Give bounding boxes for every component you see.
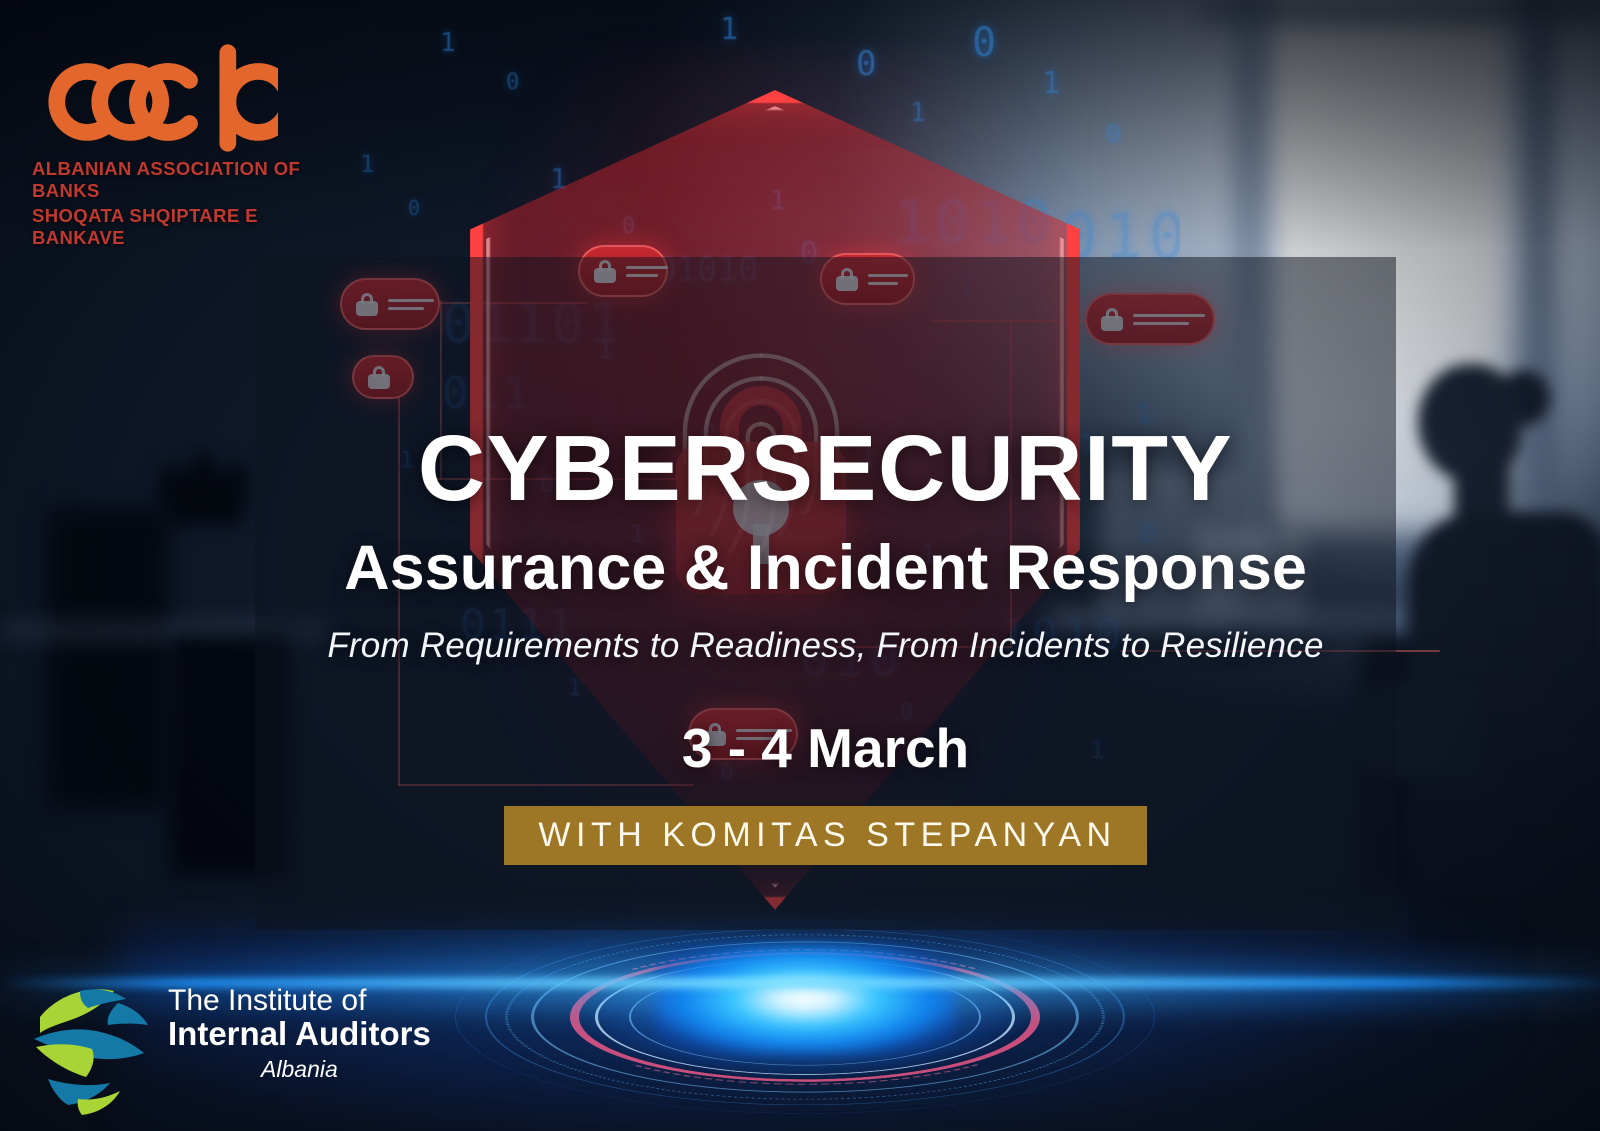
speaker-badge: WITH KOMITAS STEPANYAN	[504, 806, 1146, 865]
iia-logo: The Institute of Internal Auditors Alban…	[22, 975, 431, 1115]
iia-logo-line1: The Institute of	[168, 985, 431, 1016]
event-date: 3 - 4 March	[682, 716, 969, 780]
event-poster: 1 0 1 0 1 0 1 0 1 0 1 0 1 0 01010 01101 …	[0, 0, 1600, 1131]
aab-logo: ALBANIAN ASSOCIATION OF BANKS SHOQATA SH…	[32, 42, 332, 249]
event-subtitle: Assurance & Incident Response	[344, 537, 1307, 600]
iia-logo-line3: Albania	[168, 1056, 431, 1083]
event-tagline: From Requirements to Readiness, From Inc…	[327, 626, 1323, 666]
iia-logo-line2: Internal Auditors	[168, 1016, 431, 1052]
globe-icon	[22, 975, 154, 1115]
page-title: CYBERSECURITY	[418, 422, 1233, 515]
aab-logo-line2: SHOQATA SHQIPTARE E BANKAVE	[32, 205, 332, 249]
event-text-block: CYBERSECURITY Assurance & Incident Respo…	[255, 257, 1396, 930]
aab-logo-line1: ALBANIAN ASSOCIATION OF BANKS	[32, 158, 332, 202]
aab-infinity-mark	[32, 42, 278, 154]
